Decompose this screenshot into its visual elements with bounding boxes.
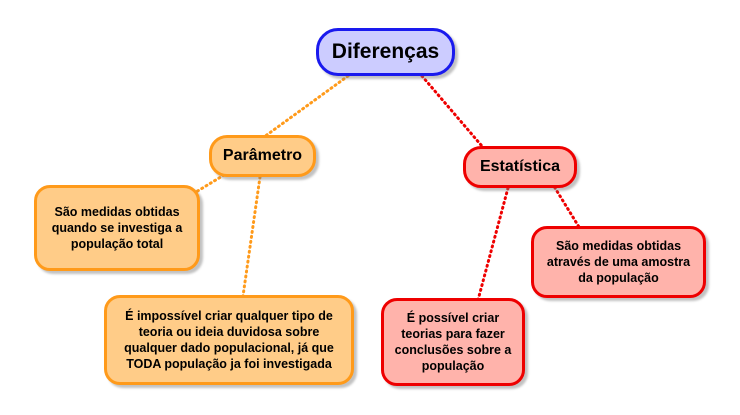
- node-root-diferencas[interactable]: Diferenças: [316, 28, 455, 76]
- edge-parametro-to-leaf-upper: [196, 175, 224, 192]
- edge-estatistica-to-leaf-lower: [478, 188, 508, 300]
- node-leaf-parametro-definicao-label: São medidas obtidas quando se investiga …: [37, 204, 197, 253]
- edge-root-to-estatistica: [422, 76, 487, 152]
- node-leaf-parametro-teoria[interactable]: É impossível criar qualquer tipo de teor…: [104, 295, 354, 385]
- node-branch-parametro-label: Parâmetro: [212, 147, 313, 165]
- node-branch-estatistica[interactable]: Estatística: [463, 146, 577, 188]
- node-branch-estatistica-label: Estatística: [466, 158, 574, 176]
- node-leaf-estatistica-teoria-label: É possível criar teorias para fazer conc…: [384, 310, 522, 375]
- node-branch-parametro[interactable]: Parâmetro: [209, 135, 316, 177]
- edge-estatistica-to-leaf-upper: [552, 183, 579, 227]
- edge-parametro-to-leaf-lower: [243, 177, 260, 296]
- node-leaf-estatistica-teoria[interactable]: É possível criar teorias para fazer conc…: [381, 298, 525, 386]
- node-root-label: Diferenças: [319, 40, 452, 64]
- node-leaf-estatistica-definicao[interactable]: São medidas obtidas através de uma amost…: [531, 226, 706, 298]
- node-leaf-parametro-definicao[interactable]: São medidas obtidas quando se investiga …: [34, 185, 200, 271]
- node-leaf-parametro-teoria-label: É impossível criar qualquer tipo de teor…: [107, 308, 351, 373]
- edge-root-to-parametro: [264, 76, 348, 137]
- mind-map-canvas: Diferenças Parâmetro Estatística São med…: [0, 0, 740, 415]
- node-leaf-estatistica-definicao-label: São medidas obtidas através de uma amost…: [534, 238, 703, 287]
